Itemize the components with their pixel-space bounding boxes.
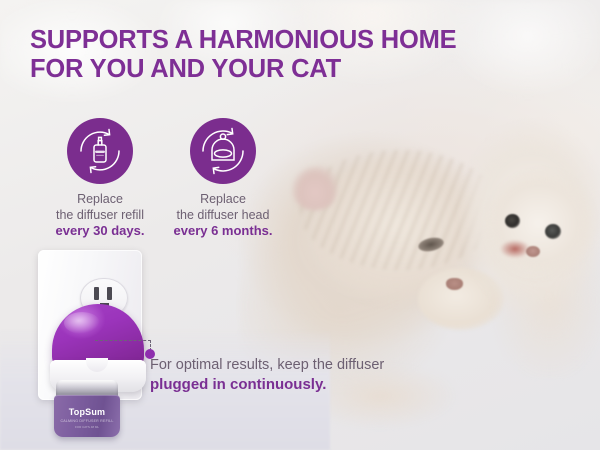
outlet-slot-right	[107, 287, 112, 300]
refill-bottle: TopSum CALMING DIFFUSER REFILL FOR CATS …	[52, 380, 122, 438]
leader-horizontal-dash	[95, 340, 151, 341]
infographic-canvas: SUPPORTS A HARMONIOUS HOME FOR YOU AND Y…	[0, 0, 600, 450]
replace-head-item: Replace the diffuser head every 6 months…	[148, 118, 298, 240]
head-caption-line-1: Replace	[200, 192, 246, 206]
headline-line-1: SUPPORTS A HARMONIOUS HOME	[30, 26, 456, 54]
refill-bottle-label: TopSum CALMING DIFFUSER REFILL FOR CATS …	[54, 395, 120, 437]
outlet-slot-left	[94, 287, 99, 300]
page-title: SUPPORTS A HARMONIOUS HOME FOR YOU AND Y…	[30, 26, 560, 83]
bottle-subtitle: CALMING DIFFUSER REFILL	[54, 419, 120, 423]
replacement-schedule-group: Replace the diffuser refill every 30 day…	[0, 118, 600, 248]
replace-head-caption: Replace the diffuser head every 6 months…	[148, 191, 298, 240]
usage-tip-emphasis: plugged in continuously.	[150, 375, 470, 395]
refill-caption-line-1: Replace	[77, 192, 123, 206]
diffuser-head-refresh-icon	[190, 118, 256, 184]
head-interval: every 6 months.	[148, 223, 298, 240]
usage-tip-line-1: For optimal results, keep the diffuser	[150, 357, 384, 373]
refill-bottle-refresh-icon	[67, 118, 133, 184]
head-caption-line-2: the diffuser head	[177, 208, 270, 222]
refill-caption-line-2: the diffuser refill	[56, 208, 144, 222]
brand-name: TopSum	[54, 407, 120, 417]
bottle-subtitle-secondary: FOR CATS 48 ML	[54, 425, 120, 429]
usage-tip-caption: For optimal results, keep the diffuser p…	[150, 356, 470, 394]
headline-line-2: FOR YOU AND YOUR CAT	[30, 55, 560, 84]
